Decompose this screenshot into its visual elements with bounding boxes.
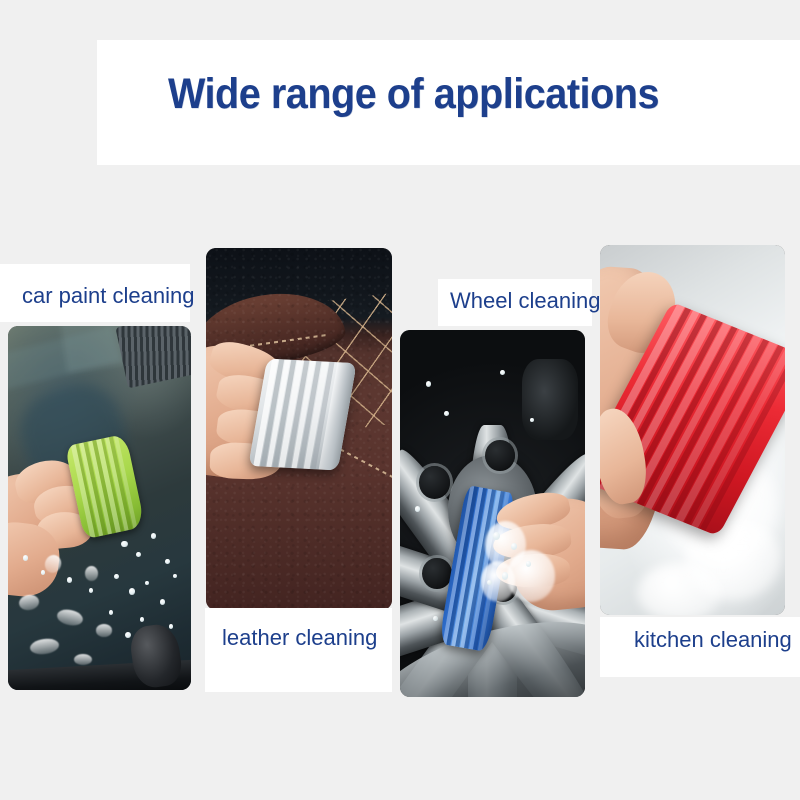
photo-car-paint-cleaning	[8, 326, 191, 690]
panel-label-kitchen: kitchen cleaning	[634, 627, 792, 653]
scene-car-windshield	[8, 326, 191, 690]
scene-leather-seat	[206, 248, 392, 610]
photo-leather-cleaning	[206, 248, 392, 610]
sponge-grey	[248, 359, 357, 471]
scene-alloy-wheel	[400, 330, 585, 697]
page-title: Wide range of applications	[168, 70, 659, 119]
photo-wheel-cleaning	[400, 330, 585, 697]
panel-label-car-paint: car paint cleaning	[22, 283, 194, 309]
panel-label-leather: leather cleaning	[222, 625, 377, 651]
scene-kitchen-sink	[600, 245, 785, 615]
panel-label-wheel: Wheel cleaning	[450, 288, 600, 314]
photo-kitchen-cleaning	[600, 245, 785, 615]
